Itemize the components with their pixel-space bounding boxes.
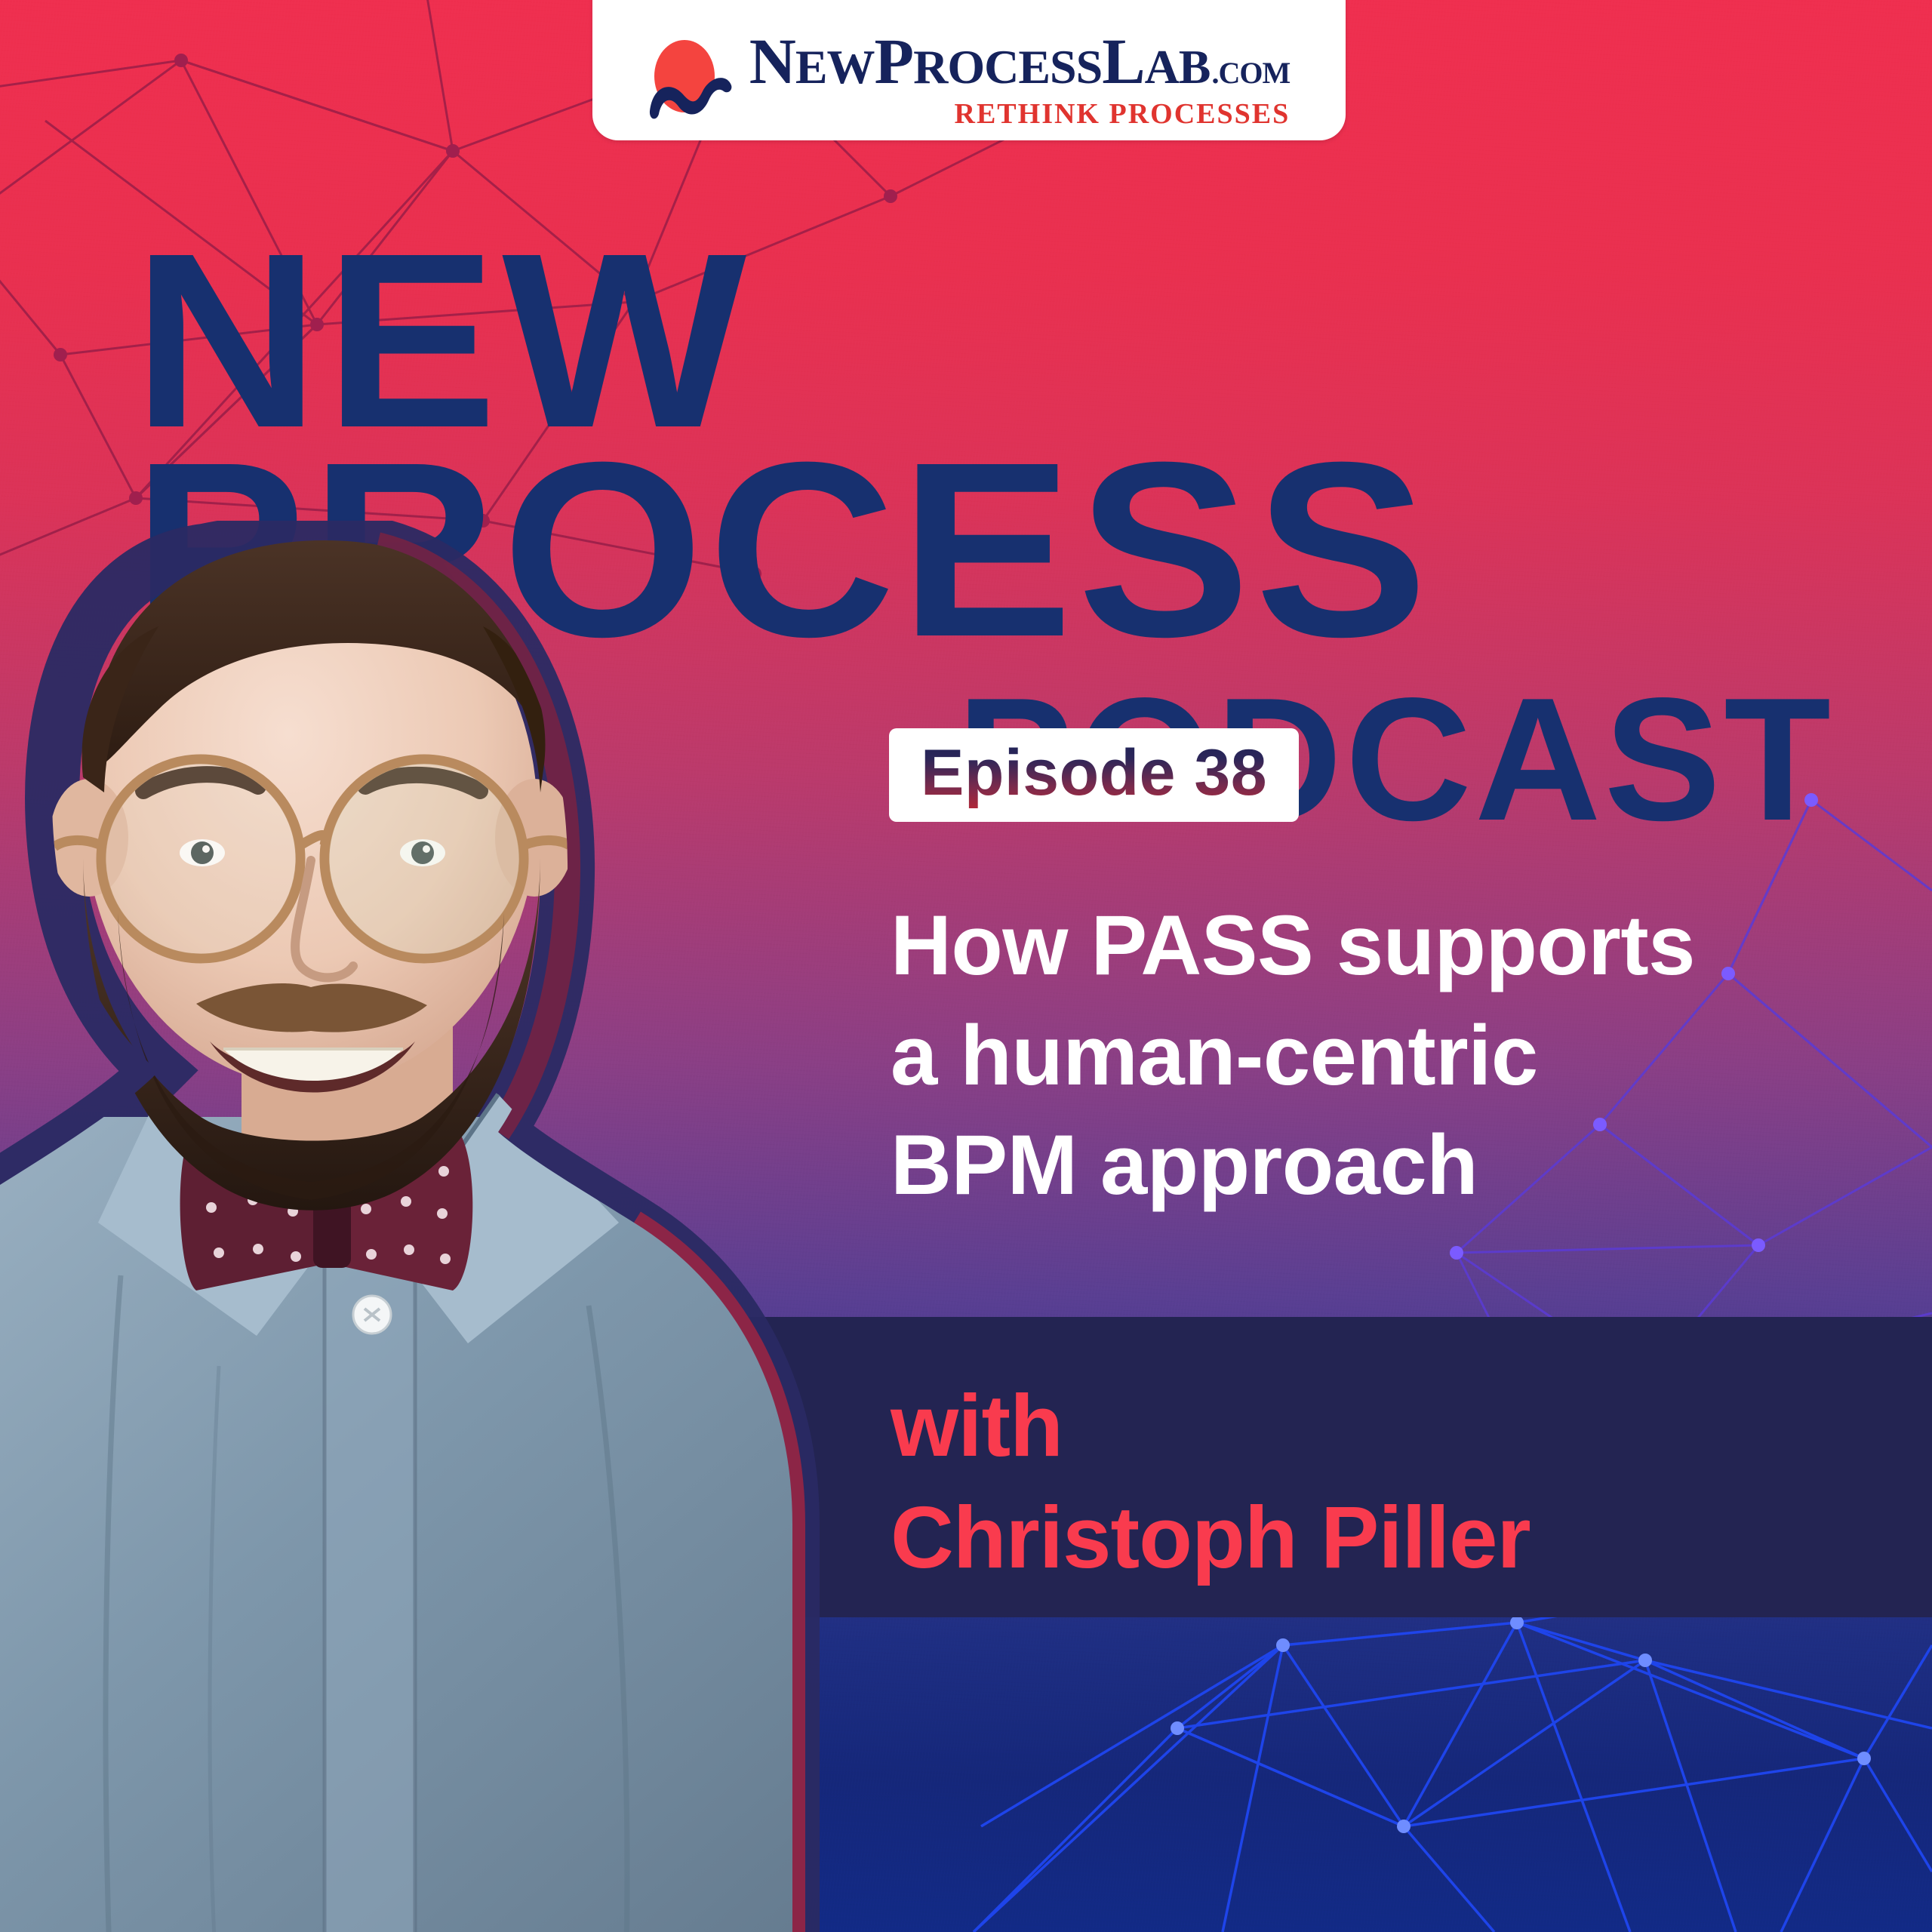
episode-title: How PASS supports a human-centric BPM ap… [891,891,1894,1220]
brand-logo-badge[interactable]: NEWPROCESSLAB.COM RETHINK PROCESSES [592,0,1346,140]
podcast-cover-art: NEWPROCESSLAB.COM RETHINK PROCESSES NEW … [0,0,1932,1932]
guest-with-label: with [891,1370,1894,1481]
episode-badge-label: Episode 38 [921,737,1267,809]
episode-title-line-2: a human-centric [891,1001,1894,1111]
brand-wordmark: NEWPROCESSLAB.COM [749,29,1290,94]
sunrise-wave-mark-icon [648,29,733,128]
episode-title-line-3: BPM approach [891,1110,1894,1220]
guest-name: Christoph Piller [891,1481,1894,1593]
guest-credit: with Christoph Piller [891,1370,1894,1594]
episode-badge: Episode 38 [889,728,1299,822]
brand-tagline: RETHINK PROCESSES [955,100,1291,128]
brand-domain-suffix: .COM [1211,58,1290,88]
episode-title-line-1: How PASS supports [891,891,1894,1001]
guest-portrait [0,521,875,1932]
